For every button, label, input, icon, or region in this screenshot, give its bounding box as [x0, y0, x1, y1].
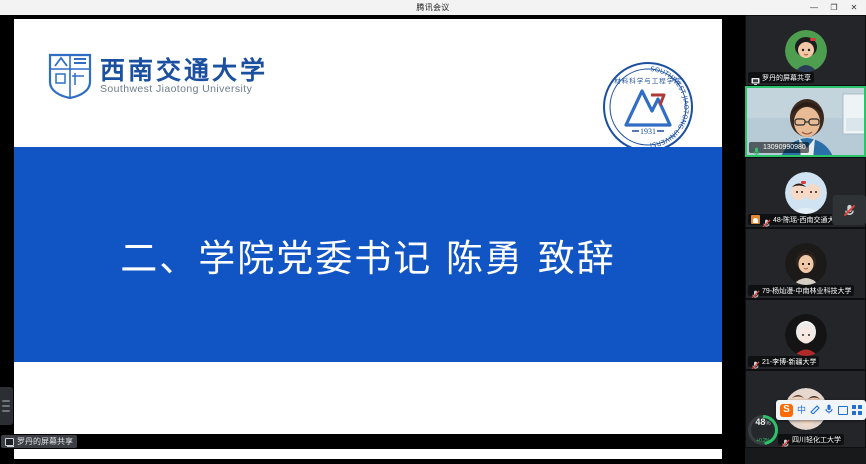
window-controls: — ❐ ✕ — [804, 0, 864, 15]
screen-share-task-label: 罗丹的屏幕共享 — [17, 436, 73, 447]
svg-text:材料科学与工程学院: 材料科学与工程学院 — [614, 76, 682, 85]
mic-muted-icon — [762, 215, 771, 224]
participant-tile[interactable]: 79-杨灿漫-中南林业科技大学 — [745, 228, 866, 299]
shared-screen-area[interactable]: 西南交通大学 Southwest Jiaotong University 193… — [0, 15, 745, 449]
participant-namebar: 21-李博-新疆大学 — [748, 356, 819, 367]
participant-name: 79-杨灿漫-中南林业科技大学 — [762, 286, 851, 296]
participant-rail[interactable]: 罗丹的屏幕共享 — [745, 15, 866, 464]
minimize-button[interactable]: — — [804, 0, 824, 15]
person-glyph — [753, 218, 758, 223]
sogou-logo-icon[interactable]: S — [780, 404, 793, 417]
shield-icon — [48, 52, 92, 100]
handle-line — [2, 410, 10, 412]
participant-name: 四川轻化工大学 — [792, 435, 841, 445]
handle-line — [2, 400, 10, 402]
university-wordmark: 西南交通大学 Southwest Jiaotong University — [100, 58, 268, 95]
mic-muted-icon — [843, 204, 856, 217]
progress-sublabel: +0.2% — [748, 438, 778, 444]
screen-share-task-chip[interactable]: 罗丹的屏幕共享 — [1, 435, 77, 448]
mic-muted-icon — [751, 357, 760, 366]
participant-namebar: 48-陈瑶-西南交通大学 — [748, 214, 844, 225]
maximize-button[interactable]: ❐ — [824, 0, 844, 15]
grid-cell — [852, 411, 856, 415]
grid-cell — [852, 405, 856, 409]
participant-tile[interactable]: 21-李博-新疆大学 — [745, 299, 866, 370]
presentation-slide: 西南交通大学 Southwest Jiaotong University 193… — [14, 19, 722, 459]
mic-muted-icon — [781, 435, 790, 444]
participant-name: 13090990980 — [763, 144, 806, 151]
avatar — [785, 172, 827, 214]
monitor-icon — [5, 438, 14, 446]
ime-keyboard-icon[interactable] — [838, 406, 848, 415]
close-button[interactable]: ✕ — [844, 0, 864, 15]
university-logo: 西南交通大学 Southwest Jiaotong University — [48, 52, 268, 100]
mic-muted-icon — [751, 286, 760, 295]
university-name-cn: 西南交通大学 — [100, 58, 268, 83]
left-panel-handle[interactable] — [0, 387, 13, 425]
grid-cell — [858, 411, 862, 415]
participant-name: 罗丹的屏幕共享 — [762, 73, 811, 83]
participant-namebar: 罗丹的屏幕共享 — [748, 72, 814, 83]
screen-share-icon — [751, 73, 760, 82]
mic-active-icon — [752, 143, 761, 152]
host-taskbar: 罗丹的屏幕共享 — [0, 434, 745, 449]
mute-toggle-button[interactable] — [832, 195, 866, 225]
handle-line — [2, 405, 10, 407]
participant-namebar: 四川轻化工大学 — [778, 434, 844, 445]
ime-toolbox-icon[interactable] — [852, 405, 862, 415]
university-name-en: Southwest Jiaotong University — [100, 84, 268, 95]
participant-namebar: 79-杨灿漫-中南林业科技大学 — [748, 285, 854, 296]
participant-name: 21-李博-新疆大学 — [762, 357, 816, 367]
ime-language-mode[interactable]: 中 — [797, 406, 806, 415]
participant-tile[interactable]: 13090990980 — [745, 86, 866, 157]
ime-microphone-icon[interactable] — [824, 404, 834, 416]
college-seal-icon: 1931 SOUTHWEST JIAOTONG UNIVERSITY 材料科学与… — [602, 61, 694, 153]
window-titlebar: 腾讯会议 — ❐ ✕ — [0, 0, 866, 15]
window-title: 腾讯会议 — [416, 2, 449, 13]
participant-namebar: 13090990980 — [749, 142, 809, 153]
slide-header: 西南交通大学 Southwest Jiaotong University 193… — [14, 19, 722, 147]
sogou-ime-toolbar[interactable]: S 中 — [776, 400, 866, 420]
avatar — [785, 243, 827, 285]
svg-text:1931: 1931 — [640, 127, 656, 136]
progress-value: 48 — [755, 418, 765, 427]
tencent-meeting-window: 腾讯会议 — ❐ ✕ — [0, 0, 866, 464]
ime-voice-icon[interactable] — [810, 404, 820, 416]
host-badge-icon — [751, 215, 760, 224]
progress-symbol: % — [765, 421, 770, 427]
participant-tile[interactable]: 罗丹的屏幕共享 — [745, 15, 866, 86]
grid-cell — [858, 405, 862, 409]
avatar — [785, 314, 827, 356]
avatar — [785, 30, 827, 72]
slide-title: 二、学院党委书记 陈勇 致辞 — [120, 228, 616, 282]
slide-title-band: 二、学院党委书记 陈勇 致辞 — [14, 147, 722, 362]
